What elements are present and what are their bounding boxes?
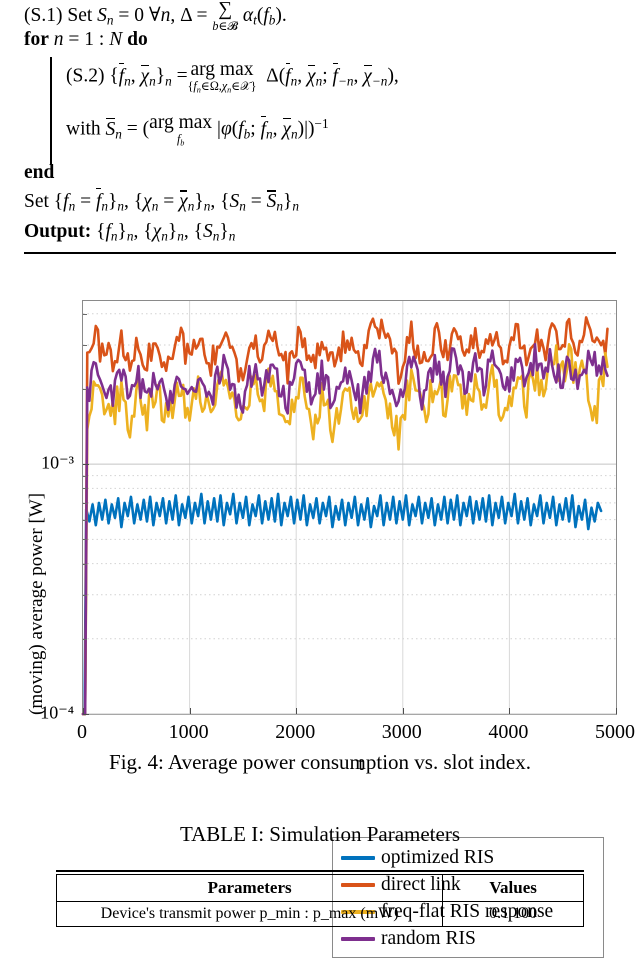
algorithm-line-s2: (S.2) {fn, χn}n =arg max{fn∈Ω,χn∈𝒳} Δ(fn… [66,60,399,94]
algorithm-set-keyword: Set [24,191,49,212]
figure-4: (moving) average power [W] 0100020003000… [0,262,640,792]
x-tick-mark [403,708,404,714]
y-tick-label: 10⁻³ [10,453,74,474]
x-tick-mark [296,708,297,714]
algorithm-line-with: with Sn = (arg maxfb |φ(fb; fn, χn)|)−1 [66,113,329,147]
algorithm-s2-prefix: (S.2) [66,66,104,87]
algorithm-bottom-rule [24,252,616,254]
paper-page: (S.1) Set Sn = 0 ∀n, Δ = ∑b∈𝓑 αt(fb). fo… [0,0,640,924]
table-title: TABLE I: Simulation Parameters [0,822,640,847]
algorithm-block: (S.1) Set Sn = 0 ∀n, Δ = ∑b∈𝓑 αt(fb). fo… [0,0,640,262]
algorithm-line-output: Output: {fn}n, {χn}n, {Sn}n [24,222,235,243]
y-minor-tick-mark [83,503,87,504]
legend-swatch-optimized-ris [341,856,375,860]
algorithm-output-keyword: Output: [24,221,91,242]
y-minor-tick-mark [83,595,87,596]
figure-caption: Fig. 4: Average power consumption vs. sl… [0,750,640,775]
plot-area [82,300,617,715]
x-tick-mark [616,708,617,714]
algorithm-loop-bar [50,57,52,165]
y-minor-tick-mark [83,345,87,346]
algorithm-end-keyword: end [24,163,54,183]
table-header-parameters: Parameters [57,875,443,902]
legend-label-random-ris: random RIS [381,929,476,949]
y-minor-tick-mark [83,539,87,540]
x-tick-label: 2000 [275,721,315,744]
algorithm-s1-body: Set Sn = 0 ∀n, Δ = ∑b∈𝓑 αt(fb). [67,5,286,26]
table-header-row: Parameters Values [57,875,584,902]
y-minor-tick-mark [83,564,87,565]
algorithm-do-keyword: do [127,29,148,50]
y-axis-title: (moving) average power [W] [26,493,48,715]
series-optimized-ris [83,494,601,714]
legend-label-optimized-ris: optimized RIS [381,848,494,868]
y-minor-tick-mark [83,476,87,477]
algorithm-with-keyword: with [66,119,101,140]
y-minor-tick-mark [83,389,87,390]
algorithm-for-keyword: for [24,29,49,50]
series-layer [83,301,616,714]
x-tick-label: 1000 [169,721,209,744]
algorithm-line-for: for n = 1 : N do [24,30,148,50]
x-tick-label: 3000 [382,721,422,744]
y-minor-tick-mark [83,639,87,640]
parameters-table: Parameters Values Device's transmit powe… [56,874,584,927]
x-tick-mark [190,708,191,714]
table-header-values: Values [443,875,584,902]
x-tick-label: 5000 [595,721,635,744]
x-tick-label: 4000 [488,721,528,744]
algorithm-s1-prefix: (S.1) [24,5,62,26]
y-tick-mark [83,464,89,465]
algorithm-argmax-s2: arg max [188,60,257,80]
table-1: TABLE I: Simulation Parameters Parameter… [0,822,640,847]
table-cell-parameter: Device's transmit power p_min : p_max (m… [57,902,443,927]
y-minor-tick-mark [83,488,87,489]
x-tick-label: 0 [77,721,87,744]
algorithm-line-set: Set {fn = fn}n, {χn = χn}n, {Sn = Sn}n [24,192,299,213]
y-minor-tick-mark [83,520,87,521]
series-freq-flat-ris-response [83,344,607,714]
algorithm-argmax-with: arg max [149,113,212,133]
x-tick-mark [509,708,510,714]
y-minor-tick-mark [83,314,87,315]
legend-swatch-random-ris [341,937,375,941]
y-tick-mark [83,714,89,715]
y-tick-label: 10⁻⁴ [10,703,74,724]
table-cell-value: 0.1 100 [443,902,584,927]
legend-item-3: random RIS [341,925,595,952]
legend-item-0: optimized RIS [341,844,595,871]
table-row: Device's transmit power p_min : p_max (m… [57,902,584,927]
